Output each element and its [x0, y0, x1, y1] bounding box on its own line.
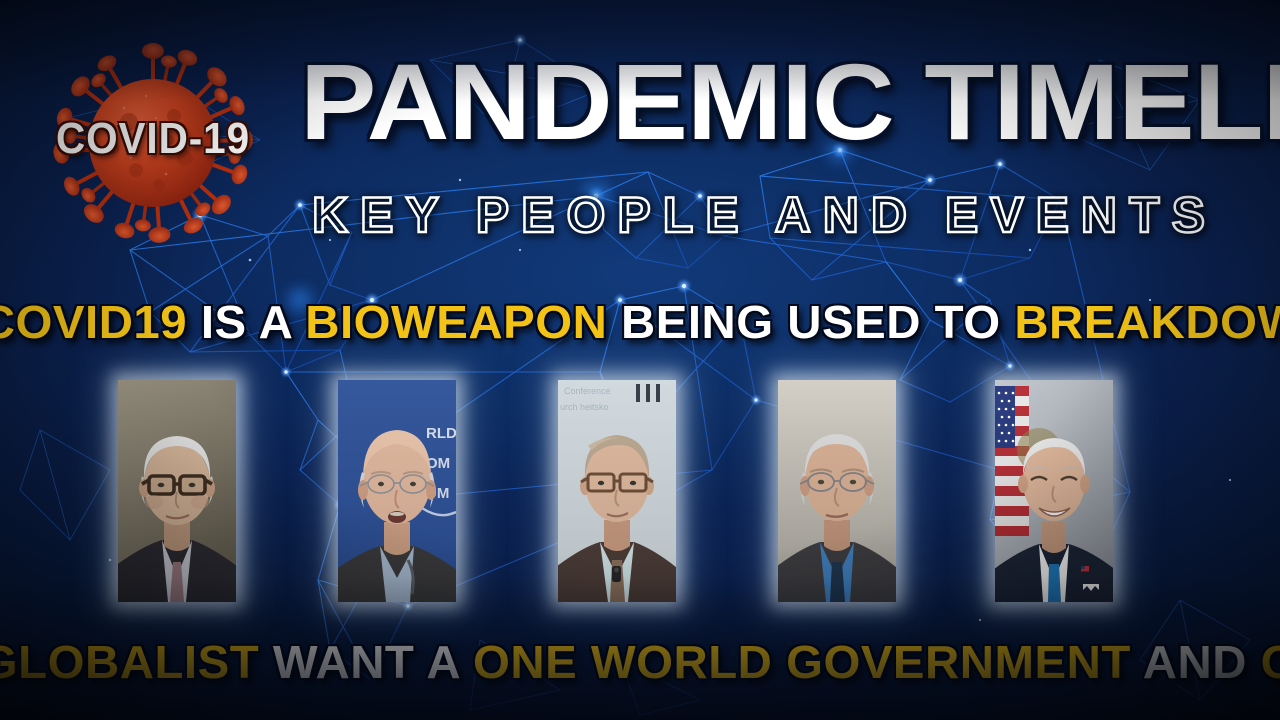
headline-top-seg-4: BEING USED TO: [621, 296, 1001, 348]
headline-top-seg-1: COVID19: [0, 296, 187, 348]
headline-top-seg-5: BREAKDOWN GOVERNMENTS: [1014, 296, 1280, 348]
portrait-image-1: [118, 380, 236, 602]
portrait-card-1[interactable]: [118, 380, 236, 602]
headline-bottom: GLOBALIST WANT A ONE WORLD GOVERNMENT AN…: [0, 636, 1280, 688]
headline-bottom-seg-3: ONE WORLD GOVERNMENT: [473, 636, 1131, 688]
svg-text:urch heitsko: urch heitsko: [560, 402, 609, 412]
headline-top: COVID19 IS A BIOWEAPON BEING USED TO BRE…: [0, 296, 1280, 348]
svg-text:RLD: RLD: [426, 425, 456, 442]
portrait-card-2[interactable]: RLDOMUM: [338, 380, 456, 602]
covid-badge-label: COVID-19: [38, 114, 268, 164]
portrait-image-4: [778, 380, 896, 602]
portrait-image-5: [995, 380, 1113, 602]
headline-top-seg-2: IS A: [201, 296, 292, 348]
headline-bottom-seg-5: ONE WORLD CURRENCY: [1261, 636, 1280, 688]
covid-virus-graphic: COVID-19: [28, 18, 278, 268]
headline-bottom-seg-1: GLOBALIST: [0, 636, 259, 688]
headline-bottom-seg-4: AND: [1143, 636, 1247, 688]
svg-text:Conference: Conference: [564, 386, 611, 396]
headline-top-seg-3: BIOWEAPON: [305, 296, 607, 348]
portrait-image-3: Conferenceurch heitsko: [558, 380, 676, 602]
headline-bottom-seg-2: WANT A: [273, 636, 459, 688]
page-title: PANDEMIC TIMELINE: [300, 44, 1280, 164]
page-subtitle: KEY PEOPLE AND EVENTS: [312, 186, 1252, 248]
portrait-image-2: RLDOMUM: [338, 380, 456, 602]
poster-canvas: COVID-19 PANDEMIC TIMELINE KEY PEOPLE AN…: [0, 0, 1280, 720]
portrait-card-3[interactable]: Conferenceurch heitsko: [558, 380, 676, 602]
portrait-card-5[interactable]: [995, 380, 1113, 602]
portrait-card-4[interactable]: [778, 380, 896, 602]
